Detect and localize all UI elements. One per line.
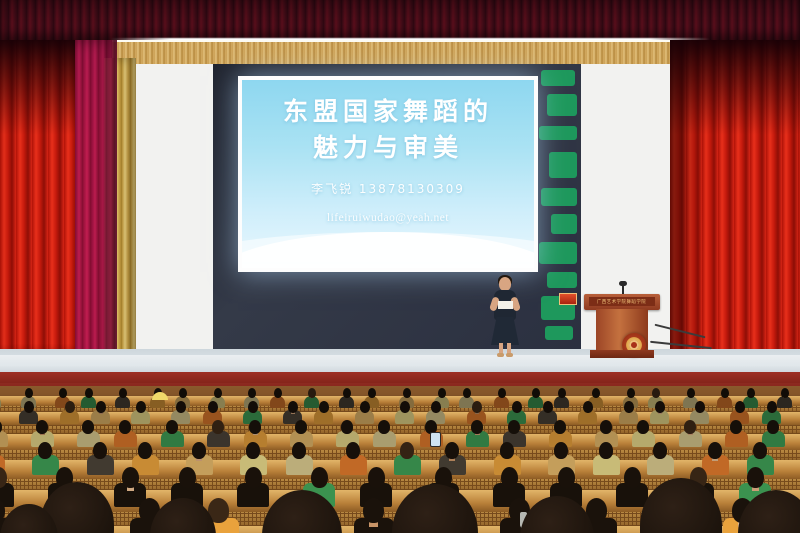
audience-member-head — [543, 401, 553, 413]
slide-title-line1: 东盟国家舞蹈的 — [242, 94, 534, 130]
audience-member-head — [498, 388, 506, 398]
audience-member-head — [627, 388, 635, 398]
slide-text-block: 东盟国家舞蹈的 魅力与审美 李飞锐 13878130309 lifeiruiwu… — [242, 80, 534, 224]
audience-member-head — [378, 420, 390, 434]
green-artifact — [551, 214, 577, 234]
audience-member-head — [368, 388, 376, 398]
audience-member-head — [655, 401, 665, 413]
audience-member-head — [346, 442, 360, 459]
audience-member-head — [246, 442, 260, 459]
audience-member-head — [65, 401, 75, 413]
audience-member-head — [179, 467, 196, 488]
podium-nameplate: 广西艺术学院舞蹈学院 — [589, 297, 655, 306]
audience-member-head — [24, 401, 34, 413]
audience-member-head — [558, 467, 575, 488]
audience-member-head — [653, 442, 667, 459]
audience-member-head — [136, 401, 146, 413]
audience-member-head — [248, 388, 256, 398]
audience-member-head — [214, 388, 222, 398]
audience-member-head — [747, 467, 764, 488]
audience-member-head — [85, 388, 93, 398]
green-artifact — [541, 188, 577, 206]
presenter-skirt — [491, 317, 519, 345]
audience-member-head — [248, 401, 258, 413]
audience-member-head — [288, 401, 298, 413]
audience-member-head — [341, 420, 353, 434]
slide-presenter-line: 李飞锐 13878130309 — [242, 180, 534, 197]
audience-member-head — [583, 401, 593, 413]
valance-shading — [0, 0, 800, 40]
audience-member-head — [472, 401, 482, 413]
stage-valance — [0, 0, 800, 40]
audience-member-head — [96, 401, 106, 413]
audience-member-head — [554, 442, 568, 459]
audience-member-head — [695, 401, 705, 413]
audience-member-head — [445, 442, 459, 459]
green-artifact — [549, 152, 577, 178]
audience-member-head — [684, 420, 696, 434]
audience-member-head — [93, 442, 107, 459]
audience-member-head — [119, 420, 131, 434]
audience-member-head — [311, 467, 328, 488]
audience-member-head — [400, 442, 414, 459]
audience-member-head — [687, 388, 695, 398]
stage-curtain-right — [670, 40, 800, 375]
audience-member-head — [400, 401, 410, 413]
magenta-curtain-fold — [75, 40, 117, 370]
green-artifact — [545, 326, 573, 340]
audience-member-head — [508, 420, 520, 434]
green-artifact — [541, 70, 575, 86]
audience-member-head — [138, 442, 152, 459]
audience-member-head — [781, 388, 789, 398]
audience-member-head — [624, 467, 641, 488]
green-artifact — [547, 272, 577, 288]
stage-floor-reflection — [0, 355, 800, 367]
audience-member-head — [554, 420, 566, 434]
audience-member-head — [292, 442, 306, 459]
audience-member-head — [38, 442, 52, 459]
green-artifact — [539, 126, 577, 140]
audience-member-head — [558, 388, 566, 398]
audience-member-head — [176, 401, 186, 413]
audience-member-head — [343, 388, 351, 398]
green-artifact — [547, 94, 577, 116]
audience-member-head — [600, 420, 612, 434]
audience-member-head — [708, 442, 722, 459]
audience-member-head — [25, 388, 33, 398]
podium-inscription: 广西艺术学院舞蹈学院 — [597, 298, 647, 304]
audience-member-head — [308, 388, 316, 398]
yellow-cap — [152, 392, 168, 400]
audience-member-head — [624, 401, 634, 413]
audience-member-head — [652, 388, 660, 398]
audience-member-head — [360, 401, 370, 413]
green-artifact — [539, 242, 577, 264]
audience-member-head — [512, 401, 522, 413]
presenter-notes — [498, 301, 513, 309]
audience-member-head — [599, 442, 613, 459]
podium-emblem-center — [629, 340, 639, 350]
audience-member-head — [319, 401, 329, 413]
podium-body — [596, 309, 648, 351]
audience-member-head — [431, 401, 441, 413]
podium-top: 广西艺术学院舞蹈学院 — [584, 294, 660, 310]
audience-member-head — [500, 442, 514, 459]
presenter-figure — [487, 277, 523, 357]
audience-member-torso — [0, 431, 8, 447]
audience-member-head — [463, 388, 471, 398]
audience-member-head — [438, 388, 446, 398]
audience-member-head — [730, 420, 742, 434]
projection-screen: 东盟国家舞蹈的 魅力与审美 李飞锐 13878130309 lifeiruiwu… — [238, 76, 538, 272]
audience-member-head — [403, 388, 411, 398]
audience-area — [0, 386, 800, 533]
speaker-podium: 广西艺术学院舞蹈学院 — [584, 294, 660, 360]
audience-member-head — [363, 498, 384, 523]
audience-member-head — [368, 467, 385, 488]
gold-pelmet — [100, 40, 715, 64]
green-chroma-artifacts — [539, 64, 581, 349]
podium-base — [590, 350, 654, 358]
audience-member-head — [245, 467, 262, 488]
slide-title-line2: 魅力与审美 — [242, 130, 534, 166]
audience-member-head — [735, 401, 745, 413]
audience-member-head — [122, 467, 139, 488]
audience-member-head — [501, 467, 518, 488]
audience-member-head — [747, 388, 755, 398]
audience-member-head — [208, 401, 218, 413]
audience-member-head — [274, 388, 282, 398]
presenter-head — [499, 277, 511, 291]
presentation-slide: 东盟国家舞蹈的 魅力与审美 李飞锐 13878130309 lifeiruiwu… — [242, 80, 534, 268]
audience-member-head — [753, 442, 767, 459]
audience-member-head — [295, 420, 307, 434]
audience-member-head — [166, 420, 178, 434]
audience-member-head — [179, 388, 187, 398]
audience-member-head — [82, 420, 94, 434]
audience-member-head — [592, 388, 600, 398]
slide-email: lifeiruiwudao@yeah.net — [242, 212, 534, 224]
audience-member-head — [249, 420, 261, 434]
audience-member-head — [767, 401, 777, 413]
audience-member-head — [637, 420, 649, 434]
presenter-shoe-left — [497, 353, 504, 357]
audience-member-head — [119, 388, 127, 398]
audience-member-head — [532, 388, 540, 398]
audience-member-head — [192, 442, 206, 459]
audience-member-head — [36, 420, 48, 434]
slide-wave-decoration-2 — [242, 232, 534, 262]
presenter-shoe-right — [506, 353, 513, 357]
auditorium-photo: 东盟国家舞蹈的 魅力与审美 李飞锐 13878130309 lifeiruiwu… — [0, 0, 800, 533]
curtain-right-shadow — [670, 40, 800, 135]
audience-member-head — [767, 420, 779, 434]
audience-member-head — [212, 420, 224, 434]
audience-member-head — [471, 420, 483, 434]
smartphone — [430, 432, 441, 447]
panel-indicator-chip — [559, 293, 577, 305]
audience-member-head — [721, 388, 729, 398]
audience-member-head — [59, 388, 67, 398]
